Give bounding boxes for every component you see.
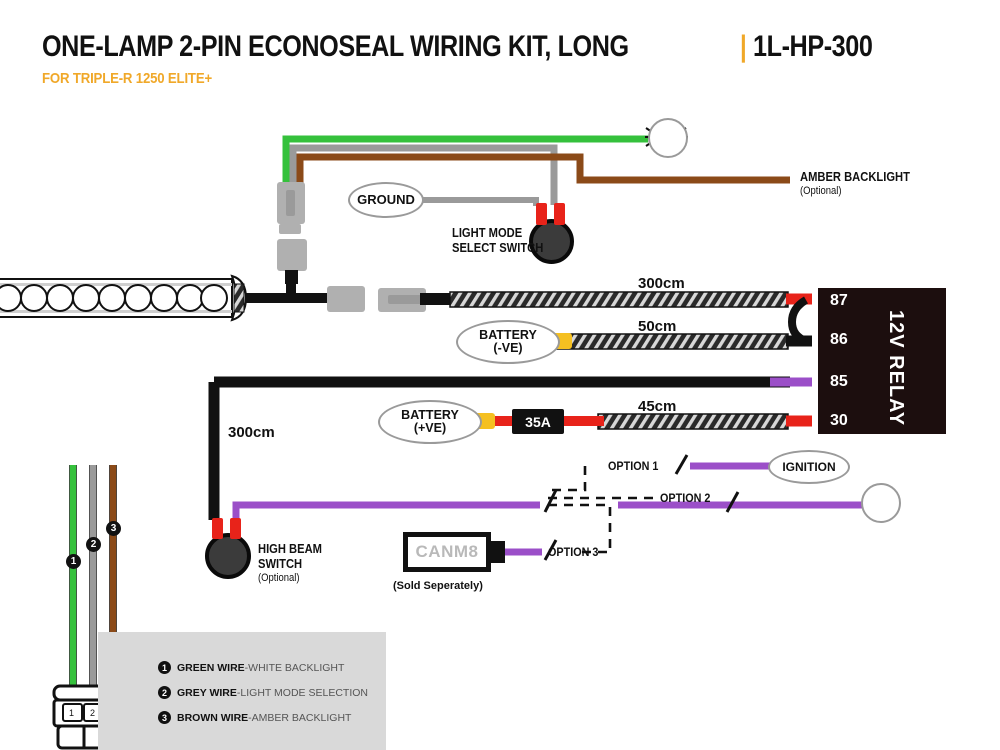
wiring-diagram: ONE-LAMP 2-PIN ECONOSEAL WIRING KIT, LON… bbox=[0, 0, 1000, 750]
connector-pin-1: 1 bbox=[69, 708, 74, 718]
legend-wire-2: GREY WIRE bbox=[177, 687, 237, 699]
lamp-icon bbox=[648, 118, 688, 158]
legend-item-3: 3 BROWN WIRE - AMBER BACKLIGHT bbox=[158, 711, 351, 724]
connector-pin-2: 2 bbox=[90, 708, 95, 718]
light-bar-icon bbox=[0, 276, 246, 320]
battery-positive-label: BATTERY (+VE) bbox=[378, 400, 482, 444]
canm8-sub-label: (Sold Seperately) bbox=[393, 580, 483, 593]
ignition-label: IGNITION bbox=[768, 450, 850, 484]
legend-desc-1: WHITE BACKLIGHT bbox=[248, 662, 344, 674]
fuse-35a: 35A bbox=[512, 409, 564, 434]
relay-pin-85: 85 bbox=[830, 373, 848, 391]
legend-wire-1: GREEN WIRE bbox=[177, 662, 245, 674]
high-beam-terminal-left bbox=[212, 518, 223, 539]
light-mode-line1: LIGHT MODE bbox=[452, 226, 543, 241]
high-beam-terminal-right bbox=[230, 518, 241, 539]
dimension-lamp-cable: 300cm bbox=[638, 275, 685, 292]
legend-item-1: 1 GREEN WIRE - WHITE BACKLIGHT bbox=[158, 661, 344, 674]
amber-backlight-title: AMBER BACKLIGHT bbox=[800, 170, 910, 185]
light-mode-line2: SELECT SWITCH bbox=[452, 241, 543, 256]
relay-pin-30: 30 bbox=[830, 412, 848, 430]
high-beam-line2: SWITCH bbox=[258, 557, 322, 572]
connector-blocks bbox=[277, 182, 307, 284]
legend-bullet-1: 1 bbox=[158, 661, 171, 674]
amber-backlight-sub: (Optional) bbox=[800, 185, 910, 198]
dimension-battery-neg: 50cm bbox=[638, 318, 676, 335]
amber-backlight-label: AMBER BACKLIGHT (Optional) bbox=[800, 170, 910, 198]
high-beam-switch-label: HIGH BEAM SWITCH (Optional) bbox=[258, 542, 322, 585]
relay-title: 12V RELAY bbox=[884, 310, 907, 426]
legend-desc-3: AMBER BACKLIGHT bbox=[252, 712, 352, 724]
option-2-label: OPTION 2 bbox=[660, 491, 710, 505]
canm8-module: CANM8 bbox=[403, 532, 491, 572]
high-beam-sub: (Optional) bbox=[258, 572, 322, 585]
legend-item-2: 2 GREY WIRE - LIGHT MODE SELECTION bbox=[158, 686, 368, 699]
high-beam-switch[interactable] bbox=[205, 533, 251, 579]
option-3-label: OPTION 3 bbox=[548, 545, 598, 559]
light-mode-switch-label: LIGHT MODE SELECT SWITCH bbox=[452, 226, 543, 256]
wire-badge-3: 3 bbox=[106, 521, 121, 536]
light-mode-terminal-right bbox=[554, 203, 565, 225]
legend-desc-2: LIGHT MODE SELECTION bbox=[240, 687, 368, 699]
wire-badge-1: 1 bbox=[66, 554, 81, 569]
legend-wire-3: BROWN WIRE bbox=[177, 712, 248, 724]
light-mode-terminal-left bbox=[536, 203, 547, 225]
option-1-label: OPTION 1 bbox=[608, 459, 658, 473]
wire-badge-2: 2 bbox=[86, 537, 101, 552]
canm8-connector bbox=[489, 541, 505, 563]
legend-bullet-2: 2 bbox=[158, 686, 171, 699]
battery-pos-line2: (+VE) bbox=[414, 422, 446, 435]
battery-neg-line2: (-VE) bbox=[493, 342, 522, 355]
legend-bullet-3: 3 bbox=[158, 711, 171, 724]
dimension-high-beam: 300cm bbox=[228, 424, 275, 441]
relay-pin-86: 86 bbox=[830, 331, 848, 349]
battery-negative-label: BATTERY (-VE) bbox=[456, 320, 560, 364]
high-beam-line1: HIGH BEAM bbox=[258, 542, 322, 557]
relay-pin-87: 87 bbox=[830, 292, 848, 310]
headlight-icon bbox=[861, 483, 901, 523]
ground-label: GROUND bbox=[348, 182, 424, 218]
inline-connector-a bbox=[327, 286, 365, 312]
dimension-battery-pos: 45cm bbox=[638, 398, 676, 415]
